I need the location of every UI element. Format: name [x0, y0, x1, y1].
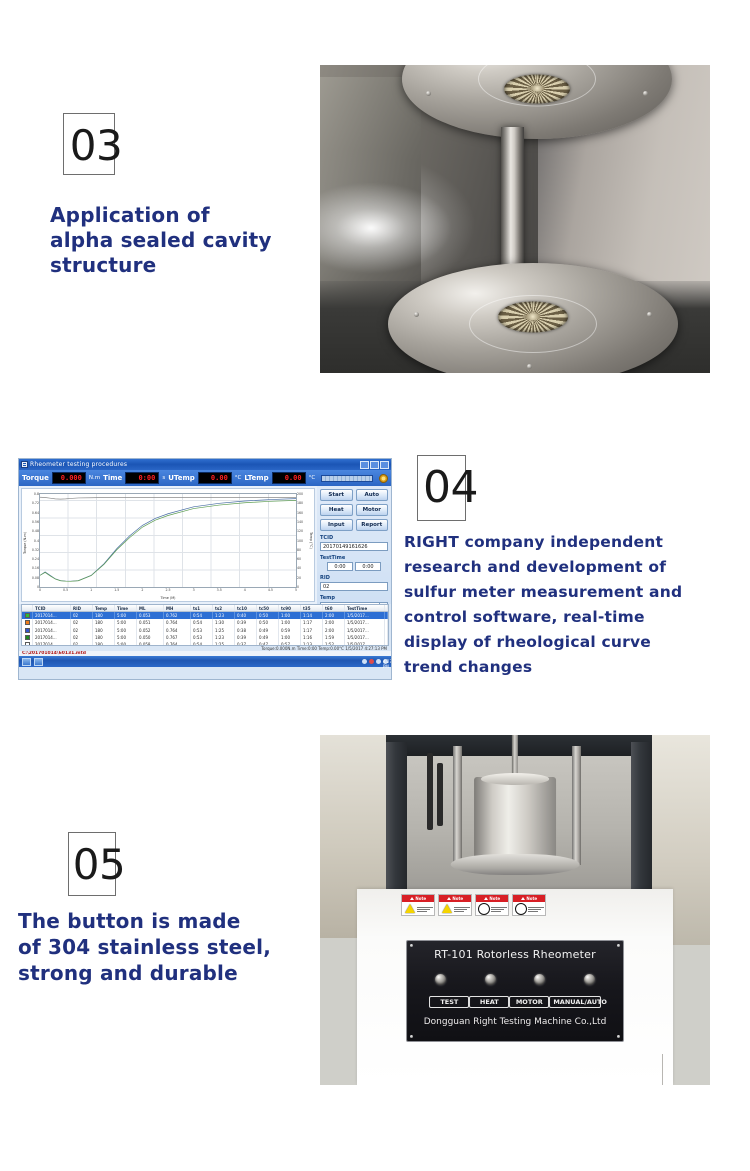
- die-bolt: [527, 364, 532, 369]
- headline-line: control software, real-time: [404, 605, 682, 630]
- rheological-curve-chart: Torque (N.m) Temp (°C) Time (M) 00.080.1…: [21, 488, 315, 602]
- table-cell: 02: [71, 634, 93, 641]
- warning-text-lines: [417, 903, 433, 915]
- table-cell: 1:30: [213, 619, 235, 626]
- temp-label: Temp: [320, 595, 388, 601]
- chart-plot-area: 00.080.160.240.320.40.480.560.640.720.80…: [39, 493, 297, 588]
- warning-label: Note: [512, 894, 546, 916]
- table-cell: 2017014...: [33, 627, 71, 634]
- torque-value: 0.000: [52, 472, 86, 484]
- table-cell: 2:00: [323, 612, 345, 619]
- photo-rheometer-software: Rheometer testing procedures Torque 0.00…: [18, 458, 392, 680]
- chart-x-tick: 2.5: [165, 587, 170, 592]
- tray-icon[interactable]: [362, 659, 367, 664]
- warning-triangle-icon: [404, 903, 416, 914]
- control-panel-title: RT-101 Rotorless Rheometer: [434, 948, 596, 961]
- headline-line: sulfur meter measurement and: [404, 580, 682, 605]
- headline-line: of 304 stainless steel,: [18, 934, 271, 960]
- minimize-button[interactable]: [360, 461, 369, 469]
- chart-x-axis-label: Time (M): [22, 596, 314, 600]
- chart-y-tick: 0.64: [32, 511, 39, 515]
- table-cell: 0:53: [191, 634, 213, 641]
- table-cell: 0.050: [137, 634, 164, 641]
- table-cell: 1:14: [301, 612, 323, 619]
- table-cell: 0.767: [164, 634, 191, 641]
- swatch-icon: [25, 613, 30, 618]
- machine-guide-post: [572, 746, 581, 865]
- section-number-05: 05: [73, 844, 125, 886]
- die-bolt: [643, 91, 648, 96]
- swatch-icon: [25, 635, 30, 640]
- chart-y2-tick: 120: [297, 529, 303, 533]
- prohibition-circle-icon: [515, 903, 527, 914]
- testtime-input-b[interactable]: 0:00: [355, 562, 381, 571]
- table-cell: 180: [93, 641, 115, 646]
- rid-input[interactable]: 02: [320, 582, 388, 591]
- table-header-row: TCIDRIDTempTimeMLMHts1ts2tc10tc50tc90t35…: [22, 605, 388, 612]
- indicator-lamp-heat[interactable]: [485, 974, 496, 985]
- section-number-badge-05: 05: [68, 832, 116, 896]
- table-cell: 180: [93, 619, 115, 626]
- chart-x-tick: 0.5: [63, 587, 68, 592]
- table-cell: 2:00: [323, 619, 345, 626]
- table-cell: 02: [71, 627, 93, 634]
- table-cell: 1:25: [213, 627, 235, 634]
- window-controls[interactable]: [360, 461, 389, 469]
- chart-y-tick: 0.08: [32, 576, 39, 580]
- panel-screw: [410, 1035, 413, 1038]
- chart-y2-tick: 0: [297, 585, 299, 589]
- table-header-cell[interactable]: tc10: [235, 605, 257, 611]
- torque-unit: N.m: [89, 475, 100, 481]
- control-button-row: TEST HEAT MOTOR MANUAL/AUTO: [429, 996, 600, 1008]
- table-cell: 0.052: [137, 627, 164, 634]
- table-header-cell[interactable]: Sample: [385, 605, 388, 611]
- indicator-lamp-row: [435, 974, 594, 985]
- table-cell: 2017014...: [33, 634, 71, 641]
- machine-hose: [427, 753, 433, 830]
- headline-line: structure: [50, 253, 272, 278]
- testtime-input-a[interactable]: 0:00: [327, 562, 353, 571]
- table-header-cell[interactable]: ts2: [213, 605, 235, 611]
- headline-line: alpha sealed cavity: [50, 228, 272, 253]
- table-cell: 1/5/2017...: [345, 619, 385, 626]
- chart-y2-tick: 20: [297, 576, 301, 580]
- section-headline-03: Application of alpha sealed cavity struc…: [50, 203, 272, 278]
- table-header-cell[interactable]: TestTime: [345, 605, 385, 611]
- indicator-lamp-test[interactable]: [435, 974, 446, 985]
- chart-y-tick: 0.16: [32, 566, 39, 570]
- headline-line: trend changes: [404, 655, 682, 680]
- table-header-cell[interactable]: tc50: [257, 605, 279, 611]
- machine-top-beam: [386, 735, 651, 756]
- table-cell: 02: [71, 619, 93, 626]
- chart-series-line: [40, 497, 296, 499]
- product-feature-page: 03 Application of alpha sealed cavity st…: [0, 0, 750, 1171]
- taskbar-start-icon[interactable]: [22, 658, 31, 666]
- machine-cylinder: [474, 777, 556, 861]
- software-readout-toolbar: Torque 0.000 N.m Time 0:00 s UTemp 0.00 …: [19, 470, 391, 486]
- report-button[interactable]: Report: [356, 519, 389, 531]
- prohibition-circle-icon: [478, 903, 490, 914]
- headline-line: display of rheological curve: [404, 630, 682, 655]
- chart-y2-tick: 160: [297, 511, 303, 515]
- table-header-cell[interactable]: tc90: [279, 605, 301, 611]
- chart-y2-tick: 60: [297, 557, 301, 561]
- input-button[interactable]: Input: [320, 519, 353, 531]
- row-color-swatch[interactable]: [22, 619, 33, 626]
- time-label: Time: [103, 474, 122, 482]
- chart-x-tick: 0: [39, 587, 41, 592]
- indicator-lamp-motor[interactable]: [534, 974, 545, 985]
- table-cell: 0:53: [191, 627, 213, 634]
- table-cell: 2017014...: [33, 612, 71, 619]
- warning-label-header: Note: [415, 896, 426, 901]
- software-body: Torque (N.m) Temp (°C) Time (M) 00.080.1…: [19, 486, 391, 604]
- table-cell: 0.764: [164, 641, 191, 646]
- table-cell: 0.764: [164, 619, 191, 626]
- app-icon: [21, 461, 28, 468]
- warning-triangle-icon: [410, 897, 414, 900]
- indicator-lamp-manual-auto[interactable]: [584, 974, 595, 985]
- table-row[interactable]: 2017014...021805:000.0580.7640:541:250:3…: [22, 641, 388, 646]
- warning-label: Note: [401, 894, 435, 916]
- headline-line: The button is made: [18, 908, 271, 934]
- chart-y-tick: 0.56: [32, 520, 39, 524]
- chart-y-tick: 0.48: [32, 529, 39, 533]
- software-control-sidebar: Start Auto Heat Motor Input Report TCID …: [317, 486, 391, 604]
- table-cell: 0:54: [191, 619, 213, 626]
- table-cell: 5:00: [115, 619, 137, 626]
- cavity-shaft: [501, 127, 524, 277]
- table-cell: 0:37: [235, 641, 257, 646]
- table-cell: 180: [93, 627, 115, 634]
- table-cell: [385, 627, 388, 634]
- table-cell: 0.053: [137, 612, 164, 619]
- control-panel: RT-101 Rotorless Rheometer TEST HEAT MOT…: [406, 940, 624, 1042]
- warning-label: Note: [475, 894, 509, 916]
- warning-text-lines: [491, 903, 507, 915]
- chart-x-tick: 2: [141, 587, 143, 592]
- table-row[interactable]: 2017014...021805:000.0530.7620:541:230:4…: [22, 612, 388, 619]
- chart-y2-tick: 140: [297, 520, 303, 524]
- section-number-badge-04: 04: [417, 455, 466, 521]
- warning-label-header: Note: [489, 896, 500, 901]
- time-value: 0:00: [125, 472, 159, 484]
- machine-white-housing: Note Note Note Note: [357, 889, 673, 1085]
- table-cell: 02: [71, 641, 93, 646]
- table-cell: 1:17: [301, 619, 323, 626]
- table-header-cell[interactable]: MH: [164, 605, 191, 611]
- close-button[interactable]: [380, 461, 389, 469]
- section-number-03: 03: [70, 125, 122, 167]
- table-cell: 0:39: [235, 619, 257, 626]
- warning-label-header: Note: [526, 896, 537, 901]
- table-cell: 5:00: [115, 627, 137, 634]
- table-header-cell[interactable]: TCID: [33, 605, 71, 611]
- table-cell: 1/5/2017...: [345, 634, 385, 641]
- swatch-icon: [25, 642, 30, 646]
- table-cell: 1/5/2017...: [345, 612, 385, 619]
- table-header-cell[interactable]: ML: [137, 605, 164, 611]
- table-cell: 1/5/2017...: [345, 641, 385, 646]
- photo-alpha-sealed-cavity: [320, 65, 710, 373]
- tcid-field-group: TCID 20170149161626: [320, 535, 388, 551]
- table-cell: 1:16: [301, 634, 323, 641]
- software-titlebar: Rheometer testing procedures: [19, 459, 391, 470]
- headline-line: research and development of: [404, 555, 682, 580]
- utemp-label: UTemp: [168, 474, 195, 482]
- table-cell: 0:50: [257, 612, 279, 619]
- taskbar-clock: 4:27 PM: [383, 659, 388, 664]
- machine-hose: [437, 763, 443, 826]
- chart-x-tick: 3: [193, 587, 195, 592]
- table-header-cell[interactable]: t35: [301, 605, 323, 611]
- table-header-cell[interactable]: Temp: [93, 605, 115, 611]
- machine-cylinder-base: [451, 854, 580, 875]
- table-header-cell[interactable]: ts1: [191, 605, 213, 611]
- chart-y-axis-label: Torque (N.m): [23, 532, 27, 554]
- tray-icon[interactable]: [369, 659, 374, 664]
- table-cell: 0:59: [279, 627, 301, 634]
- rid-field-group: RID 02: [320, 575, 388, 591]
- row-color-swatch[interactable]: [22, 634, 33, 641]
- table-header-cell[interactable]: Time: [115, 605, 137, 611]
- table-row[interactable]: 2017014...021805:000.0500.7670:531:230:3…: [22, 634, 388, 641]
- table-header-cell[interactable]: RID: [71, 605, 93, 611]
- table-cell: [385, 619, 388, 626]
- start-button[interactable]: Start: [320, 489, 353, 501]
- table-header-cell[interactable]: t60: [323, 605, 345, 611]
- gear-icon[interactable]: [379, 474, 388, 483]
- chart-x-tick: 5: [295, 587, 297, 592]
- power-cable: [662, 1054, 663, 1085]
- warning-text-lines: [528, 903, 544, 915]
- headline-line: strong and durable: [18, 960, 271, 986]
- chart-y2-tick: 200: [297, 492, 303, 496]
- table-cell: 0:49: [257, 627, 279, 634]
- warning-label-header: Note: [452, 896, 463, 901]
- table-cell: 0.058: [137, 641, 164, 646]
- table-header-cell[interactable]: [22, 605, 33, 611]
- auto-button[interactable]: Auto: [356, 489, 389, 501]
- torque-label: Torque: [22, 474, 49, 482]
- chart-y2-tick: 100: [297, 539, 303, 543]
- ltemp-label: LTemp: [244, 474, 268, 482]
- die-bolt: [414, 312, 419, 317]
- table-cell: 1:59: [323, 634, 345, 641]
- lower-die-core: [498, 301, 568, 332]
- chart-y-tick: 0.8: [34, 492, 39, 496]
- panel-screw: [617, 944, 620, 947]
- table-row[interactable]: 2017014...021805:000.0520.7640:531:250:3…: [22, 627, 388, 634]
- ltemp-value: 0.00: [272, 472, 306, 484]
- lens-flare: [320, 182, 453, 274]
- table-cell: 0:47: [257, 641, 279, 646]
- manufacturer-name: Dongguan Right Testing Machine Co.,Ltd: [424, 1017, 607, 1027]
- table-body: TCIDRIDTempTimeMLMHts1ts2tc10tc50tc90t35…: [22, 605, 388, 646]
- chart-x-tick: 1.5: [114, 587, 119, 592]
- tcid-input[interactable]: 20170149161626: [320, 542, 388, 551]
- warning-triangle-icon: [484, 897, 488, 900]
- time-unit: s: [162, 475, 165, 481]
- table-cell: 0:57: [279, 641, 301, 646]
- warning-text-lines: [454, 903, 470, 915]
- motor-button[interactable]: MOTOR: [509, 996, 549, 1008]
- swatch-icon: [25, 620, 30, 625]
- window-title: Rheometer testing procedures: [30, 461, 127, 468]
- table-cell: 0:38: [235, 627, 257, 634]
- table-cell: 1:23: [213, 612, 235, 619]
- heat-button[interactable]: Heat: [320, 504, 353, 516]
- chart-y2-tick: 180: [297, 501, 303, 505]
- panel-screw: [410, 944, 413, 947]
- ltemp-unit: °C: [309, 475, 316, 481]
- die-bolt: [426, 91, 431, 96]
- section-number-badge-03: 03: [63, 113, 115, 175]
- chart-x-tick: 4: [244, 587, 246, 592]
- panel-screw: [617, 1035, 620, 1038]
- headline-line: RIGHT company independent: [404, 530, 682, 555]
- table-cell: 0.764: [164, 627, 191, 634]
- headline-line: Application of: [50, 203, 272, 228]
- table-cell: 2:00: [323, 627, 345, 634]
- swatch-icon: [25, 628, 30, 633]
- table-cell: 2017014...: [33, 641, 71, 646]
- chart-series-layer: [40, 494, 296, 587]
- testtime-label: TestTime: [320, 555, 388, 561]
- table-cell: 0.051: [137, 619, 164, 626]
- table-cell: 5:00: [115, 612, 137, 619]
- table-cell: 1:00: [279, 619, 301, 626]
- chart-y-tick: 0.4: [34, 539, 39, 543]
- table-cell: 1/5/2017...: [345, 627, 385, 634]
- table-cell: 1:00: [279, 612, 301, 619]
- warning-triangle-icon: [441, 903, 453, 914]
- utemp-unit: °C: [235, 475, 242, 481]
- row-color-swatch[interactable]: [22, 612, 33, 619]
- table-cell: 0:40: [235, 612, 257, 619]
- table-cell: [385, 634, 388, 641]
- chart-y-tick: 0.24: [32, 557, 39, 561]
- table-cell: 1:52: [323, 641, 345, 646]
- test-button[interactable]: TEST: [429, 996, 469, 1008]
- motor-button[interactable]: Motor: [356, 504, 389, 516]
- table-cell: 1:13: [301, 641, 323, 646]
- chart-x-tick: 3.5: [217, 587, 222, 592]
- maximize-button[interactable]: [370, 461, 379, 469]
- software-button-grid: Start Auto Heat Motor Input Report: [320, 489, 388, 531]
- chart-y-tick: 0.32: [32, 548, 39, 552]
- row-color-swatch[interactable]: [22, 627, 33, 634]
- progress-bar: [321, 475, 373, 482]
- row-color-swatch[interactable]: [22, 641, 33, 646]
- table-cell: 0:49: [257, 634, 279, 641]
- utemp-value: 0.00: [198, 472, 232, 484]
- table-cell: 0:54: [191, 612, 213, 619]
- chart-x-tick: 1: [90, 587, 92, 592]
- taskbar-app-icon[interactable]: [34, 658, 43, 666]
- table-cell: 0:54: [191, 641, 213, 646]
- chart-x-tick: 4.5: [268, 587, 273, 592]
- table-cell: 2017014...: [33, 619, 71, 626]
- table-cell: 0.762: [164, 612, 191, 619]
- chart-series-line: [40, 499, 296, 582]
- table-cell: 1:00: [279, 634, 301, 641]
- table-cell: [385, 612, 388, 619]
- system-tray[interactable]: 4:27 PM: [362, 659, 388, 664]
- table-cell: 1:25: [213, 641, 235, 646]
- table-cell: 1:23: [213, 634, 235, 641]
- chart-y2-tick: 40: [297, 566, 301, 570]
- warning-triangle-icon: [521, 897, 525, 900]
- table-cell: 0:39: [235, 634, 257, 641]
- upper-die-core: [504, 74, 570, 103]
- chart-y-tick: 0.72: [32, 501, 39, 505]
- table-cell: 5:00: [115, 634, 137, 641]
- chart-series-line: [40, 500, 296, 581]
- section-headline-04: RIGHT company independent research and d…: [404, 530, 682, 680]
- table-cell: 0:50: [257, 619, 279, 626]
- manual-auto-button[interactable]: MANUAL/AUTO: [549, 996, 600, 1008]
- tray-icon[interactable]: [376, 659, 381, 664]
- table-cell: 02: [71, 612, 93, 619]
- table-cell: 180: [93, 612, 115, 619]
- tcid-label: TCID: [320, 535, 388, 541]
- chart-y2-axis-label: Temp (°C): [309, 532, 313, 549]
- section-number-04: 04: [423, 466, 478, 510]
- warning-label: Note: [438, 894, 472, 916]
- lower-die: [388, 263, 678, 373]
- os-taskbar[interactable]: 4:27 PM: [19, 656, 391, 667]
- machine-guide-post: [453, 746, 462, 865]
- chart-y2-tick: 80: [297, 548, 301, 552]
- warning-label-strip: Note Note Note Note: [401, 894, 546, 916]
- heat-button[interactable]: HEAT: [469, 996, 509, 1008]
- table-cell: 5:00: [115, 641, 137, 646]
- die-bolt: [647, 312, 652, 317]
- table-cell: [385, 641, 388, 646]
- table-row[interactable]: 2017014...021805:000.0510.7640:541:300:3…: [22, 619, 388, 626]
- warning-triangle-icon: [447, 897, 451, 900]
- test-results-table[interactable]: TCIDRIDTempTimeMLMHts1ts2tc10tc50tc90t35…: [21, 604, 389, 646]
- rid-label: RID: [320, 575, 388, 581]
- section-headline-05: The button is made of 304 stainless stee…: [18, 908, 271, 986]
- table-cell: 1:17: [301, 627, 323, 634]
- photo-rheometer-control-panel: Note Note Note Note: [320, 735, 710, 1085]
- table-cell: 180: [93, 634, 115, 641]
- testtime-field-group: TestTime 0:00 0:00: [320, 555, 388, 571]
